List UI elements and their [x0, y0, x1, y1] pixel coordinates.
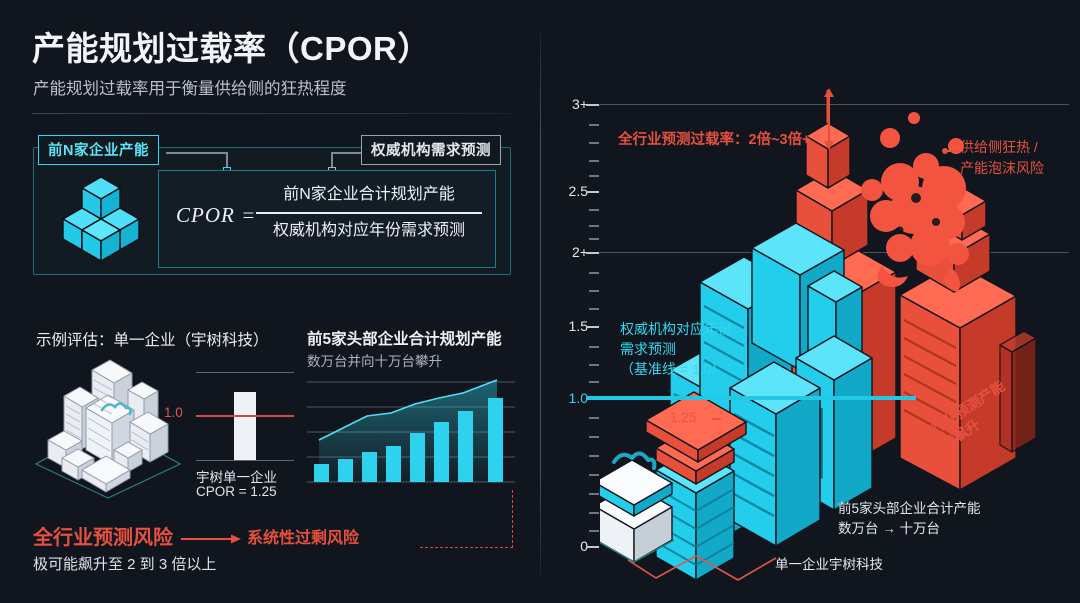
tick-minor [589, 175, 599, 177]
page-title: 产能规划过载率（CPOR） [32, 22, 431, 70]
tick-minor [589, 308, 599, 310]
marker-label-1_25: 1.25 [670, 410, 696, 425]
tick-minor [589, 272, 599, 274]
leader-line-right-horizontal [331, 152, 361, 154]
single-company-bar-chart [196, 372, 294, 462]
risk-target-label: 系统性过剩风险 [247, 524, 359, 548]
mini-bar-unitree [234, 392, 256, 460]
equation-numerator: 前N家企业合计规划产能 [256, 180, 482, 210]
area-chart-title: 前5家头部企业合计规划产能 [307, 327, 502, 349]
tick-minor [589, 209, 599, 211]
leader-line-left-horizontal [166, 152, 228, 154]
tag-top-n-capacity: 前N家企业产能 [38, 135, 159, 165]
risk-dashed-connector [420, 547, 513, 548]
mini-reference-line-1.0 [196, 415, 294, 417]
infographic-root: 产能规划过载率（CPOR） 产能规划过载率用于衡量供给侧的狂热程度 前N家企业产… [0, 0, 1080, 603]
example-heading: 示例评估：单一企业（宇树科技） [36, 328, 269, 350]
caption-single-company: 单一企业宇树科技 [775, 553, 883, 573]
header-divider [32, 113, 510, 114]
marker-tick-1_25 [712, 418, 721, 420]
caption-top5-line1: 前5家头部企业合计产能 [838, 499, 981, 519]
caption-top5-capacity: 前5家头部企业合计产能 数万台 → 十万台 [838, 499, 981, 539]
mini-caption-line2: CPOR = 1.25 [196, 484, 277, 499]
tick-2 [586, 252, 599, 254]
tick-1_5 [586, 326, 599, 328]
caption-top5-line2: 数万台 → 十万台 [838, 519, 981, 539]
annotation-baseline-demand: 权威机构对应年份 需求预测 （基准线 = 1.0） [620, 319, 732, 379]
equation-fraction-bar [256, 212, 482, 214]
annotation-bubble-line2: 产能泡沫风险 [960, 158, 1044, 179]
equation-lhs: CPOR = [176, 203, 256, 228]
tag-authority-demand-forecast: 权威机构需求预测 [361, 135, 501, 165]
top5-capacity-area-chart [307, 378, 515, 491]
right-panel: 3+ 2.5 2+ 1.5 1.0 0 [540, 0, 1080, 603]
left-panel: 产能规划过载率（CPOR） 产能规划过载率用于衡量供给侧的狂热程度 前N家企业产… [0, 0, 540, 603]
annotation-bubble-line1: 供给侧狂热 / [960, 137, 1044, 158]
annotation-bubble-leader [946, 150, 960, 152]
risk-note: 极可能飙升至 2 到 3 倍以上 [33, 553, 216, 574]
tick-2_5 [586, 191, 599, 193]
mini-caption-line1: 宇树单一企业 [196, 466, 277, 486]
mini-gridline-bottom [196, 460, 294, 461]
tick-minor [589, 493, 599, 495]
tick-minor [589, 381, 599, 383]
risk-lead-label: 全行业预测风险 [33, 521, 173, 550]
annotation-baseline-line2: 需求预测 [620, 339, 732, 359]
tick-minor [589, 225, 599, 227]
tick-minor [589, 142, 599, 144]
tick-minor [589, 238, 599, 240]
page-subtitle: 产能规划过载率用于衡量供给侧的狂热程度 [33, 75, 347, 99]
tick-minor [589, 512, 599, 514]
area-chart-subtitle: 数万台并向十万台攀升 [307, 350, 442, 370]
tick-minor [589, 436, 599, 438]
tick-minor [589, 455, 599, 457]
tick-minor [589, 417, 599, 419]
tick-3 [586, 104, 599, 106]
tick-minor [589, 290, 599, 292]
annotation-baseline-line3: （基准线 = 1.0） [620, 359, 732, 379]
annotation-industry-overload: 全行业预测过载率：2倍~3倍+ [618, 128, 811, 149]
equation-denominator: 权威机构对应年份需求预测 [256, 216, 482, 246]
range-arrow-icon [823, 88, 835, 150]
baseline-1_0 [586, 396, 916, 400]
tick-minor [589, 474, 599, 476]
tick-0 [586, 546, 599, 548]
tick-minor [589, 160, 599, 162]
risk-arrow-icon [181, 534, 241, 544]
tick-minor [589, 530, 599, 532]
isometric-city-illustration [28, 352, 188, 502]
tick-minor [589, 346, 599, 348]
tick-minor [589, 124, 599, 126]
annotation-supply-bubble: 供给侧狂热 / 产能泡沫风险 [960, 137, 1044, 179]
risk-dashed-vertical [512, 490, 513, 548]
tick-minor [589, 364, 599, 366]
mini-gridline-top [196, 372, 294, 373]
mini-reference-label: 1.0 [164, 405, 183, 420]
isometric-cube-icon [60, 175, 142, 267]
annotation-baseline-line1: 权威机构对应年份 [620, 319, 732, 339]
equation-fraction: 前N家企业合计规划产能 权威机构对应年份需求预测 [256, 180, 482, 246]
